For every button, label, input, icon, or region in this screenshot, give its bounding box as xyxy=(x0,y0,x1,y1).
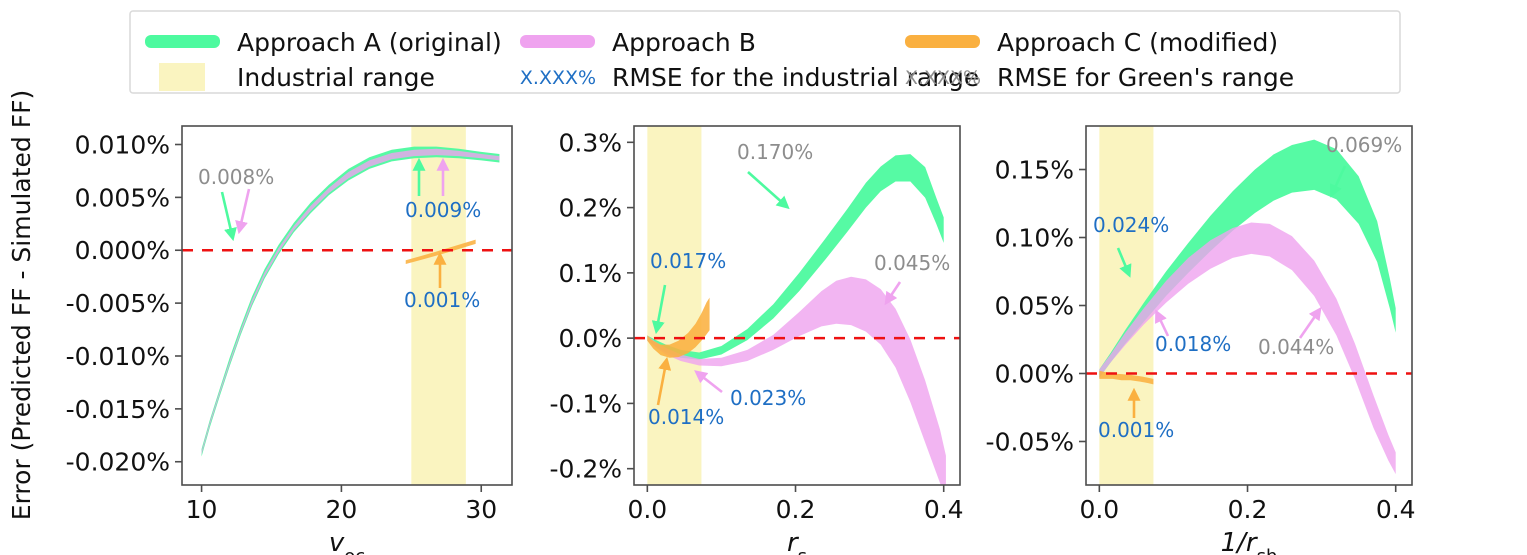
y-tick-label: 0.1% xyxy=(558,259,622,288)
annotation-label: 0.001% xyxy=(1098,418,1174,442)
y-tick-label: -0.020% xyxy=(66,448,170,477)
legend-item-label: RMSE for Green's range xyxy=(997,63,1294,92)
x-tick-label: 30 xyxy=(465,495,497,524)
y-tick-label: 0.010% xyxy=(75,131,170,160)
x-tick-label: 0.4 xyxy=(924,495,964,524)
chart-panel: 0.00.20.40.15%0.10%0.05%0.00%-0.05%1/rsh… xyxy=(986,126,1416,555)
x-axis-title: rs xyxy=(787,528,807,555)
y-tick-label: 0.00% xyxy=(995,359,1074,388)
y-tick-label: 0.10% xyxy=(995,224,1074,253)
y-axis-label: Error (Predicted FF - Simulated FF) xyxy=(7,90,36,520)
x-axis-title: 1/rsh xyxy=(1221,528,1278,555)
chart-panel: 0.00.20.40.3%0.2%0.1%0.0%-0.1%-0.2%rs0.1… xyxy=(549,126,963,555)
x-tick-label: 0.0 xyxy=(627,495,667,524)
y-tick-label: -0.010% xyxy=(66,342,170,371)
annotation-label: 0.009% xyxy=(405,198,481,222)
y-tick-label: 0.0% xyxy=(558,324,622,353)
y-tick-label: 0.15% xyxy=(995,156,1074,185)
gray-text-swatch: X.XXX% xyxy=(905,67,981,89)
y-tick-label: 0.05% xyxy=(995,292,1074,321)
annotation-label: 0.018% xyxy=(1155,332,1231,356)
annotation-label: 0.014% xyxy=(648,405,724,429)
annotation-label: 0.023% xyxy=(730,386,806,410)
annotation-label: 0.017% xyxy=(650,249,726,273)
y-tick-label: -0.2% xyxy=(549,455,622,484)
legend-item-label: Approach A (original) xyxy=(237,28,502,57)
annotation-label: 0.069% xyxy=(1326,133,1402,157)
industrial-range-band xyxy=(647,126,701,485)
blue-text-swatch: X.XXX% xyxy=(520,67,596,89)
x-axis-title: voc xyxy=(329,528,365,555)
chart-panel: 1020300.010%0.005%0.000%-0.005%-0.010%-0… xyxy=(66,126,512,555)
figure-root: Approach A (original)Approach BApproach … xyxy=(0,0,1527,555)
x-tick-label: 0.4 xyxy=(1376,495,1416,524)
x-tick-label: 0.0 xyxy=(1079,495,1119,524)
annotation-label: 0.045% xyxy=(874,251,950,275)
y-tick-label: -0.05% xyxy=(986,427,1074,456)
x-tick-label: 0.2 xyxy=(1228,495,1268,524)
yellow-band-swatch xyxy=(159,63,205,91)
legend-item-label: Approach C (modified) xyxy=(997,28,1278,57)
green-line-swatch xyxy=(145,35,220,48)
y-tick-label: -0.005% xyxy=(66,289,170,318)
legend-item[interactable]: X.XXX%RMSE for Green's range xyxy=(905,63,1294,92)
orange-line-swatch xyxy=(905,35,980,48)
y-tick-label: -0.015% xyxy=(66,395,170,424)
legend-item-label: Approach B xyxy=(612,28,756,57)
y-tick-label: 0.000% xyxy=(75,236,170,265)
y-tick-label: 0.3% xyxy=(558,128,622,157)
annotation-label: 0.008% xyxy=(198,165,274,189)
annotation-label: 0.024% xyxy=(1093,213,1169,237)
x-tick-label: 10 xyxy=(186,495,218,524)
legend-item-label: Industrial range xyxy=(237,63,435,92)
annotation-label: 0.170% xyxy=(737,140,813,164)
chart-canvas: Approach A (original)Approach BApproach … xyxy=(0,0,1527,555)
pink-line-swatch xyxy=(520,35,595,48)
x-tick-label: 20 xyxy=(326,495,358,524)
x-tick-label: 0.2 xyxy=(776,495,816,524)
y-tick-label: 0.005% xyxy=(75,183,170,212)
legend-item[interactable]: Industrial range xyxy=(159,63,435,92)
y-tick-label: 0.2% xyxy=(558,194,622,223)
y-tick-label: -0.1% xyxy=(549,389,622,418)
annotation-label: 0.001% xyxy=(404,288,480,312)
annotation-label: 0.044% xyxy=(1258,335,1334,359)
